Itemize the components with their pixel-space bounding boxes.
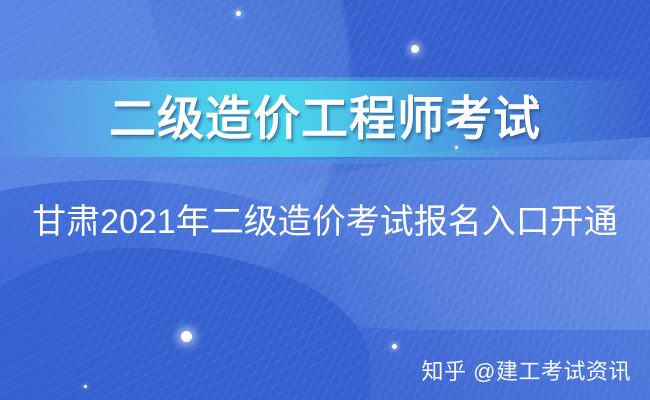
zhihu-watermark: 知乎 @建工考试资讯 [422,357,631,387]
banner-image: 二级造价工程师考试 甘肃2021年二级造价考试报名入口开通 知乎 @建工考试资讯 [0,0,650,400]
banner-subtitle: 甘肃2021年二级造价考试报名入口开通 [0,199,650,245]
banner-title: 二级造价工程师考试 [0,86,650,152]
